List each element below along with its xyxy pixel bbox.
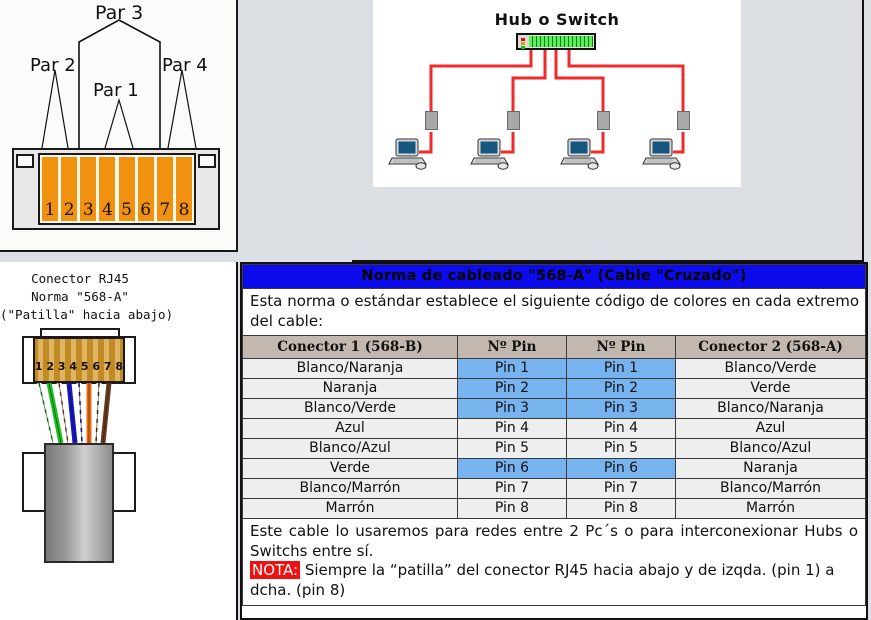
rj45-wire-bundle [35,383,123,443]
wall-outlet-2 [507,111,520,130]
cell-conector2-1: Blanco/Verde [675,359,865,379]
cable-jacket [44,443,114,563]
pin-number-3: 3 [83,202,94,221]
pin-number-8: 8 [179,202,190,221]
rj45-pin-number-7: 7 [104,360,112,373]
norma-intro-text: Esta norma o estándar establece el sigui… [243,289,866,336]
table-intro-row: Esta norma o estándar establece el sigui… [243,289,866,336]
pin-number-5: 5 [121,202,132,221]
table-row: Blanco/Marrón Pin 7 Pin 7 Blanco/Marrón [243,479,866,499]
rj45-pin-number-4: 4 [69,360,77,373]
column-header-pin-left: Nº Pin [457,336,566,359]
cell-conector2-8: Marrón [675,499,865,519]
norma-footer: Este cable lo usaremos para redes entre … [243,519,866,606]
nota-badge: NOTA: [250,561,300,579]
rj45-pin-number-6: 6 [92,360,100,373]
pin-tab-3: 3 [80,157,96,221]
cell-conector2-3: Blanco/Naranja [675,399,865,419]
pin-number-4: 4 [102,202,113,221]
cell-pin-left-5: Pin 5 [457,439,566,459]
norma-title: Norma de cableado "568-A" (Cable "Cruzad… [243,265,866,289]
table-row: Blanco/Azul Pin 5 Pin 5 Blanco/Azul [243,439,866,459]
cell-conector2-7: Blanco/Marrón [675,479,865,499]
network-topology-panel: Hub o Switch [352,0,864,262]
cell-pin-left-1: Pin 1 [457,359,566,379]
pin-number-7: 7 [159,202,170,221]
connector-pin-strip: 1 2 3 4 5 6 7 8 [38,153,196,225]
rj45-boot-left [22,452,46,512]
pin-number-1: 1 [45,202,56,221]
pin-tab-2: 2 [61,157,77,221]
table-row: Marrón Pin 8 Pin 8 Marrón [243,499,866,519]
cell-conector2-2: Verde [675,379,865,399]
cell-pin-left-3: Pin 3 [457,399,566,419]
table-row: Blanco/Verde Pin 3 Pin 3 Blanco/Naranja [243,399,866,419]
cell-conector2-5: Blanco/Azul [675,439,865,459]
rj45-caption-line-1: Conector RJ45 [0,270,160,288]
page-root: Par 3 Par 2 Par 1 Par 4 1 2 3 4 5 6 [0,0,871,620]
computer-icon-2 [469,136,513,172]
pin-tab-7: 7 [157,157,173,221]
cell-conector2-6: Naranja [675,459,865,479]
cell-pin-right-5: Pin 5 [566,439,675,459]
computer-icon-3 [559,136,603,172]
column-header-conector-1: Conector 1 (568-B) [243,336,458,359]
computer-icon-4 [641,136,685,172]
pin-tab-8: 8 [176,157,192,221]
cell-pin-left-4: Pin 4 [457,419,566,439]
cell-conector1-2: Naranja [243,379,458,399]
rj45-caption-line-3: ("Patilla" hacia abajo) [0,306,160,324]
cell-conector1-3: Blanco/Verde [243,399,458,419]
pin-number-2: 2 [64,202,75,221]
footer-note-line: NOTA: Siempre la “patilla” del conector … [250,561,858,600]
cell-conector1-4: Azul [243,419,458,439]
pin-tab-4: 4 [99,157,115,221]
rj45-pin-number-1: 1 [35,360,43,373]
wall-outlet-3 [597,111,610,130]
footer-note-text: Siempre la “patilla” del conector RJ45 h… [250,561,834,599]
pin-tab-6: 6 [138,157,154,221]
cell-pin-right-4: Pin 4 [566,419,675,439]
cell-pin-right-2: Pin 2 [566,379,675,399]
cell-conector2-4: Azul [675,419,865,439]
cell-conector1-7: Blanco/Marrón [243,479,458,499]
rj45-boot-right [112,452,136,512]
table-title-row: Norma de cableado "568-A" (Cable "Cruzad… [243,265,866,289]
pair-bracket-lines [0,0,238,150]
wall-outlet-4 [677,111,690,130]
wall-outlet-1 [425,111,438,130]
rj45-pairs-panel: Par 3 Par 2 Par 1 Par 4 1 2 3 4 5 6 [0,0,238,252]
connector-clip-right [198,154,216,168]
cell-pin-right-1: Pin 1 [566,359,675,379]
pin-tab-1: 1 [42,157,58,221]
table-row: Naranja Pin 2 Pin 2 Verde [243,379,866,399]
norma-table-panel: Norma de cableado "568-A" (Cable "Cruzad… [240,262,868,620]
rj45-pin-number-8: 8 [115,360,123,373]
cell-conector1-5: Blanco/Azul [243,439,458,459]
computer-icon-1 [387,136,431,172]
cell-pin-right-8: Pin 8 [566,499,675,519]
rj45-plug-artwork: 1 2 3 4 5 6 7 8 [22,328,142,618]
cell-conector1-6: Verde [243,459,458,479]
cell-pin-left-7: Pin 7 [457,479,566,499]
cell-pin-left-2: Pin 2 [457,379,566,399]
cell-conector1-1: Blanco/Naranja [243,359,458,379]
rj45-pin-numbers: 1 2 3 4 5 6 7 8 [33,360,125,373]
cell-conector1-8: Marrón [243,499,458,519]
cell-pin-right-7: Pin 7 [566,479,675,499]
table-row: Blanco/Naranja Pin 1 Pin 1 Blanco/Verde [243,359,866,379]
rj45-connector-front-view: 1 2 3 4 5 6 7 8 [12,148,220,230]
cell-pin-left-6: Pin 6 [457,459,566,479]
rj45-caption: Conector RJ45 Norma "568-A" ("Patilla" h… [0,270,160,324]
connector-clip-left [16,154,34,168]
rj45-wiring-panel: Conector RJ45 Norma "568-A" ("Patilla" h… [0,262,238,620]
footer-usage-text: Este cable lo usaremos para redes entre … [250,522,858,561]
cell-pin-right-6: Pin 6 [566,459,675,479]
rj45-pin-number-3: 3 [58,360,66,373]
cell-pin-left-8: Pin 8 [457,499,566,519]
cell-pin-right-3: Pin 3 [566,399,675,419]
column-header-pin-right: Nº Pin [566,336,675,359]
rj45-pin-number-5: 5 [81,360,89,373]
column-header-conector-2: Conector 2 (568-A) [675,336,865,359]
table-header-row: Conector 1 (568-B) Nº Pin Nº Pin Conecto… [243,336,866,359]
pin-number-6: 6 [140,202,151,221]
network-diagram-canvas: Hub o Switch [373,0,741,187]
table-row: Azul Pin 4 Pin 4 Azul [243,419,866,439]
table-footer-row: Este cable lo usaremos para redes entre … [243,519,866,606]
rj45-latch [40,328,120,336]
norma-cableado-table: Norma de cableado "568-A" (Cable "Cruzad… [242,264,866,606]
rj45-caption-line-2: Norma "568-A" [0,288,160,306]
pin-tab-5: 5 [119,157,135,221]
table-row: Verde Pin 6 Pin 6 Naranja [243,459,866,479]
rj45-pin-number-2: 2 [46,360,54,373]
